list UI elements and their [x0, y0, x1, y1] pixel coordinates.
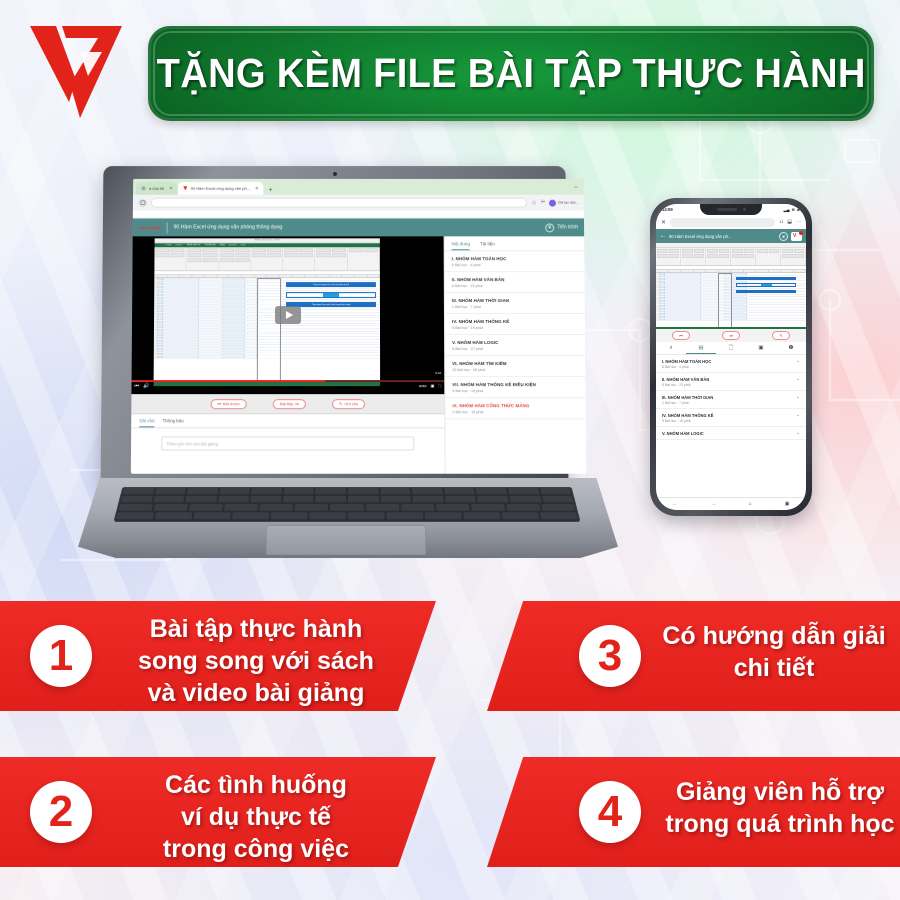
- nav-home-icon[interactable]: ⌂: [749, 501, 752, 507]
- browser-tab-label: 90 Hàm Excel ứng dụng văn ph...: [191, 186, 250, 191]
- book-icon[interactable]: ▣: [746, 342, 776, 354]
- page-title: TẶNG KÈM FILE BÀI TẬP THỰC HÀNH: [157, 50, 866, 97]
- prev-icon[interactable]: ⏮: [135, 383, 140, 389]
- nav-forward-icon[interactable]: →: [711, 501, 716, 507]
- nav-back-icon[interactable]: ←: [673, 501, 678, 507]
- sidebar-item-title: I. NHÓM HÀM TOÁN HỌC: [452, 256, 578, 261]
- trophy-icon[interactable]: ♛: [779, 232, 788, 241]
- back-arrow-icon[interactable]: ←: [660, 233, 666, 239]
- sidebar-item-title: IV. NHÓM HÀM THỐNG KÊ: [452, 319, 578, 324]
- note-button[interactable]: ✎: [772, 331, 789, 340]
- sidebar-tab-bar: Nội dung Tài liệu: [445, 236, 585, 251]
- tab-thong-bao[interactable]: Thông báo: [162, 418, 183, 427]
- excel-chart-bar-label: Tổng số lượng sản xuất sản phẩm loại A: [286, 282, 376, 287]
- excel-tab[interactable]: FORMULAS: [205, 244, 216, 246]
- lesson-nav-bar: ⏮ Bài trước Bài tiếp ⏭ ✎ Ghi chú: [131, 394, 444, 414]
- phone-app-header: ← 90 Hàm Excel ứng dụng văn ph... ♛ V: [656, 229, 806, 243]
- excel-selected-range: [718, 273, 732, 329]
- browser-tab-active[interactable]: 90 Hàm Excel ứng dụng văn ph... ✕: [178, 182, 264, 195]
- excel-tab[interactable]: PAGE LAYOUT: [187, 244, 201, 246]
- prev-icon: ⏮: [217, 401, 221, 406]
- banner-number: 2: [30, 781, 92, 843]
- excel-grid[interactable]: [656, 273, 806, 329]
- tab-ghi-chu[interactable]: Ghi chú: [139, 418, 154, 427]
- note-placeholder: Thêm ghi chú cho bài giảng: [166, 441, 218, 446]
- excel-chart-bar: [736, 290, 796, 293]
- status-time: 14:59: [662, 207, 673, 212]
- info-icon[interactable]: ❶: [776, 342, 806, 354]
- sidebar-item-section[interactable]: II. NHÓM HÀM VĂN BẢN 8 Bài học · 23 phút: [445, 272, 585, 293]
- sidebar-item-section[interactable]: IV. NHÓM HÀM THỐNG KÊ 5 Bài học · 19 phú…: [445, 314, 585, 335]
- v-badge-icon: V: [791, 232, 802, 241]
- course-title: 90 Hàm Excel ứng dụng văn phòng thông dụ…: [174, 224, 540, 230]
- list-item-meta: 5 Bài học · 19 phút: [662, 419, 796, 423]
- promo-graphic: TẶNG KÈM FILE BÀI TẬP THỰC HÀNH a của tô…: [0, 0, 900, 900]
- excel-chart-frame: [736, 283, 796, 287]
- phone-screen: 14:59 ▂▄ ≋ ▰ ✕ ⊔ ⬓ ⋯ ← 90 Hàm Excel ứng …: [656, 204, 806, 510]
- excel-chart-frame: [286, 292, 376, 298]
- sidebar-item-title: II. NHÓM HÀM VĂN BẢN: [452, 277, 578, 282]
- note-icon: ✎: [339, 401, 342, 406]
- excel-ribbon: [656, 248, 806, 266]
- progress-label: Tiến trình: [557, 224, 578, 230]
- excel-ribbon: [154, 247, 380, 271]
- chevron-down-icon[interactable]: ⌄: [796, 413, 800, 418]
- course-app-header: NHẤT NGHỆ 90 Hàm Excel ứng dụng văn phòn…: [133, 219, 584, 237]
- note-input[interactable]: Thêm ghi chú cho bài giảng: [161, 436, 414, 450]
- fullscreen-icon[interactable]: ⛶: [438, 383, 441, 388]
- banner-number: 1: [30, 625, 92, 687]
- list-item[interactable]: V. NHÓM HÀM LOGIC ⌄: [656, 427, 806, 440]
- list-item-meta: 8 Bài học · 23 phút: [662, 383, 796, 387]
- browser-tab-label: a của tôi: [149, 186, 164, 191]
- list-item-title: V. NHÓM HÀM LOGIC: [662, 431, 704, 436]
- video-controls: 6:32 ⏮ 🔊 auto ▣ ⛶: [131, 380, 444, 394]
- phone-speaker-icon: [717, 208, 737, 211]
- signal-icon: ▂▄: [784, 207, 790, 212]
- url-input[interactable]: [151, 198, 528, 208]
- sidebar-item-meta: 6 Bài học · 15 phút: [452, 389, 578, 393]
- avatar: [549, 199, 556, 206]
- play-icon[interactable]: [275, 306, 301, 324]
- sidebar-item-meta: 8 Bài học · 23 phút: [452, 284, 578, 288]
- sidebar-item-meta: 6 Bài học · 4 phút: [452, 263, 578, 267]
- excel-chart-area: [736, 277, 796, 298]
- next-lesson-button[interactable]: Bài tiếp ⏭: [273, 399, 306, 409]
- course-app-body: 90Ham_Excel.xlsx - Excel HOME INSERT PAG…: [131, 236, 587, 473]
- excel-selected-range: [257, 278, 281, 384]
- picture-in-picture-icon[interactable]: ▣: [431, 383, 435, 388]
- note-label: Ghi chú: [344, 401, 358, 406]
- sidebar-item-title: V. NHÓM HÀM LOGIC: [452, 339, 578, 345]
- list-item[interactable]: I. NHÓM HÀM TOÁN HỌC 6 Bài học · 4 phút …: [656, 355, 806, 373]
- browser-tab-bar: a của tôi ✕ 90 Hàm Excel ứng dụng văn ph…: [133, 179, 584, 195]
- browser-url-bar: ☆ ⌲ Đã tạo dán...: [133, 195, 584, 211]
- list-item-meta: 6 Bài học · 4 phút: [662, 365, 796, 369]
- header: TẶNG KÈM FILE BÀI TẬP THỰC HÀNH: [0, 0, 900, 150]
- prev-icon: ⏮: [679, 333, 683, 338]
- more-icon[interactable]: ⋯: [796, 219, 801, 225]
- app-logo[interactable]: NHẤT NGHỆ: [139, 225, 161, 230]
- sidebar-item-section[interactable]: I. NHÓM HÀM TOÁN HỌC 6 Bài học · 4 phút: [445, 251, 585, 272]
- phone-notch: [700, 204, 762, 215]
- list-item-title: IV. NHÓM HÀM THỐNG KÊ: [662, 413, 713, 418]
- phone-section-list: I. NHÓM HÀM TOÁN HỌC 6 Bài học · 4 phút …: [656, 355, 806, 440]
- excel-tab[interactable]: REVIEW: [229, 244, 237, 246]
- laptop-screen: a của tôi ✕ 90 Hàm Excel ứng dụng văn ph…: [131, 179, 587, 474]
- next-lesson-label: Bài tiếp: [280, 401, 293, 406]
- banner-number: 3: [579, 625, 641, 687]
- banner-text: Có hướng dẫn giải chi tiết: [655, 620, 893, 684]
- sidebar-item-title: VI. NHÓM HÀM TÌM KIẾM: [452, 361, 578, 367]
- sidebar-item-section[interactable]: V. NHÓM HÀM LOGIC 6 Bài học · 27 phút: [445, 335, 585, 356]
- course-sidebar: Nội dung Tài liệu I. NHÓM HÀM TOÁN HỌC 6…: [444, 236, 587, 473]
- window-minimize-button[interactable]: –: [574, 185, 577, 191]
- phone-nav-bar: ← → ⌂ ▣: [656, 497, 806, 510]
- excel-tab[interactable]: INSERT: [175, 244, 182, 246]
- list-item-title: I. NHÓM HÀM TOÁN HỌC: [662, 359, 711, 364]
- phone-tab-bar: ⌕ ▤ 🗋 ▣ ❶: [656, 342, 806, 355]
- phone-url-input[interactable]: [670, 218, 775, 227]
- laptop-mockup: a của tôi ✕ 90 Hàm Excel ứng dụng văn ph…: [78, 165, 618, 575]
- close-icon[interactable]: ✕: [661, 219, 666, 226]
- sidebar-item-section[interactable]: VII. NHÓM HÀM THỐNG KÊ ĐIỀU KIỆN 6 Bài h…: [445, 377, 585, 398]
- browser-tab-inactive[interactable]: a của tôi ✕: [136, 182, 178, 195]
- tab-close-icon[interactable]: ✕: [255, 185, 259, 191]
- extension-icon[interactable]: ⌲: [541, 199, 546, 206]
- prev-lesson-button[interactable]: ⏮ Bài trước: [210, 399, 246, 409]
- browser-bookmark-bar: [133, 211, 584, 219]
- note-icon: ✎: [779, 333, 782, 338]
- progress-button[interactable]: ♛ Tiến trình: [545, 223, 578, 232]
- phone-video-player[interactable]: [656, 243, 806, 329]
- excel-grid[interactable]: Tổng số lượng sản xuất sản phẩm loại A T…: [154, 278, 381, 384]
- page-info-icon[interactable]: [138, 198, 147, 207]
- trophy-icon: ♛: [545, 223, 554, 232]
- note-panel: Ghi chú Thông báo Thêm ghi chú cho bài g…: [131, 414, 445, 474]
- chevron-down-icon[interactable]: ⌄: [796, 377, 800, 382]
- list-item-title: II. NHÓM HÀM VĂN BẢN: [662, 377, 709, 382]
- prev-lesson-label: Bài trước: [223, 401, 240, 406]
- tabs-icon[interactable]: ⬓: [787, 219, 792, 225]
- account-label: Đã tạo dán...: [558, 201, 579, 205]
- excel-tab[interactable]: VIEW: [240, 244, 245, 246]
- browser-window: a của tôi ✕ 90 Hàm Excel ứng dụng văn ph…: [131, 179, 587, 474]
- sidebar-item-section-current[interactable]: IX. NHÓM HÀM CÔNG THỨC MẢNG 2 Bài học · …: [445, 398, 586, 419]
- account-chip[interactable]: Đã tạo dán...: [549, 199, 578, 206]
- list-item[interactable]: IV. NHÓM HÀM THỐNG KÊ 5 Bài học · 19 phú…: [656, 409, 806, 427]
- header-title-pill: TẶNG KÈM FILE BÀI TẬP THỰC HÀNH: [148, 26, 874, 121]
- list-item[interactable]: III. NHÓM HÀM THỜI GIAN 1 Bài học · 7 ph…: [656, 391, 806, 409]
- next-lesson-button[interactable]: ⏭: [722, 331, 740, 340]
- phone-camera-icon: [743, 208, 746, 211]
- tab-favicon-icon: [141, 186, 146, 191]
- wifi-icon: ≋: [792, 207, 795, 212]
- sidebar-item-section[interactable]: VI. NHÓM HÀM TÌM KIẾM 13 Bài học · 59 ph…: [445, 356, 585, 377]
- laptop-trackpad[interactable]: [266, 525, 426, 555]
- feature-banner-2: 2 Các tình huống ví dụ thực tế trong côn…: [0, 757, 436, 867]
- next-icon: ⏭: [295, 401, 299, 406]
- excel-chart-bar: Tổng số lượng sản xuất sản phẩm loại A: [286, 282, 376, 287]
- excel-tab[interactable]: DATA: [220, 244, 225, 246]
- list-icon[interactable]: ▤: [686, 342, 716, 354]
- feature-banner-3: 3 Có hướng dẫn giải chi tiết: [487, 601, 900, 711]
- nav-tabs-icon[interactable]: ▣: [785, 501, 790, 507]
- quality-label[interactable]: auto: [419, 383, 427, 388]
- laptop-keyboard: [113, 487, 580, 522]
- list-item-title: III. NHÓM HÀM THỜI GIAN: [662, 395, 713, 400]
- phone-browser-bar: ✕ ⊔ ⬓ ⋯: [656, 215, 806, 229]
- sidebar-item-title: IX. NHÓM HÀM CÔNG THỨC MẢNG: [452, 403, 578, 409]
- video-player[interactable]: 90Ham_Excel.xlsx - Excel HOME INSERT PAG…: [131, 236, 444, 394]
- divider: [167, 222, 168, 233]
- banner-text: Bài tập thực hành song song với sách và …: [106, 613, 406, 709]
- laptop-webcam-icon: [333, 172, 337, 176]
- banner-number: 4: [579, 781, 641, 843]
- banner-text: Giảng viên hỗ trợ trong quá trình học: [655, 776, 900, 840]
- excel-screenshot: 90Ham_Excel.xlsx - Excel HOME INSERT PAG…: [154, 238, 381, 386]
- list-item[interactable]: II. NHÓM HÀM VĂN BẢN 8 Bài học · 23 phút…: [656, 373, 806, 391]
- chevron-down-icon[interactable]: ⌄: [796, 431, 800, 436]
- bookmark-icon[interactable]: ⊔: [779, 219, 783, 225]
- next-icon: ⏭: [729, 333, 733, 338]
- course-main-column: 90Ham_Excel.xlsx - Excel HOME INSERT PAG…: [131, 236, 445, 473]
- excel-screenshot: [656, 243, 806, 327]
- sidebar-item-meta: 6 Bài học · 27 phút: [452, 347, 578, 351]
- list-item-meta: 1 Bài học · 7 phút: [662, 401, 796, 405]
- sidebar-item-meta: 5 Bài học · 19 phút: [452, 325, 578, 329]
- sidebar-item-title: VII. NHÓM HÀM THỐNG KÊ ĐIỀU KIỆN: [452, 382, 578, 388]
- phone-mockup: 14:59 ▂▄ ≋ ▰ ✕ ⊔ ⬓ ⋯ ← 90 Hàm Excel ứng …: [650, 198, 812, 516]
- laptop-lid: a của tôi ✕ 90 Hàm Excel ứng dụng văn ph…: [101, 166, 569, 486]
- search-icon[interactable]: ⌕: [656, 342, 686, 354]
- chevron-down-icon[interactable]: ⌄: [796, 359, 800, 364]
- sidebar-item-section[interactable]: III. NHÓM HÀM THỜI GIAN 1 Bài học · 7 ph…: [445, 293, 585, 314]
- new-tab-button[interactable]: +: [264, 187, 278, 195]
- sidebar-item-meta: 2 Bài học · 15 phút: [452, 410, 578, 414]
- chevron-down-icon[interactable]: ⌄: [796, 395, 800, 400]
- tab-noi-dung[interactable]: Nội dung: [452, 241, 470, 250]
- sidebar-item-title: III. NHÓM HÀM THỜI GIAN: [452, 298, 578, 303]
- feature-banner-4: 4 Giảng viên hỗ trợ trong quá trình học: [487, 757, 900, 867]
- v-logo: [28, 22, 124, 122]
- video-frame: 90Ham_Excel.xlsx - Excel HOME INSERT PAG…: [154, 238, 381, 386]
- document-icon[interactable]: 🗋: [716, 342, 746, 354]
- sidebar-item-meta: 1 Bài học · 7 phút: [452, 305, 578, 309]
- tab-favicon-icon: [183, 186, 188, 191]
- banner-text: Các tình huống ví dụ thực tế trong công …: [106, 769, 406, 865]
- volume-icon[interactable]: 🔊: [143, 383, 149, 389]
- video-time-label: 6:32: [435, 371, 441, 375]
- sidebar-item-meta: 13 Bài học · 59 phút: [452, 368, 578, 372]
- phone-lesson-nav-bar: ⏮ ⏭ ✎: [656, 329, 806, 342]
- prev-lesson-button[interactable]: ⏮: [672, 331, 690, 340]
- tab-tai-lieu[interactable]: Tài liệu: [480, 241, 495, 250]
- note-button[interactable]: ✎ Ghi chú: [332, 399, 365, 409]
- feature-banner-1: 1 Bài tập thực hành song song với sách v…: [0, 601, 436, 711]
- note-tab-bar: Ghi chú Thông báo: [131, 414, 444, 428]
- video-progress-bar[interactable]: [132, 380, 445, 382]
- excel-chart-bar: [736, 277, 796, 280]
- excel-tab[interactable]: HOME: [166, 244, 172, 246]
- phone-course-title: 90 Hàm Excel ứng dụng văn ph...: [669, 234, 776, 239]
- star-icon[interactable]: ☆: [531, 199, 536, 206]
- tab-close-icon[interactable]: ✕: [169, 185, 173, 191]
